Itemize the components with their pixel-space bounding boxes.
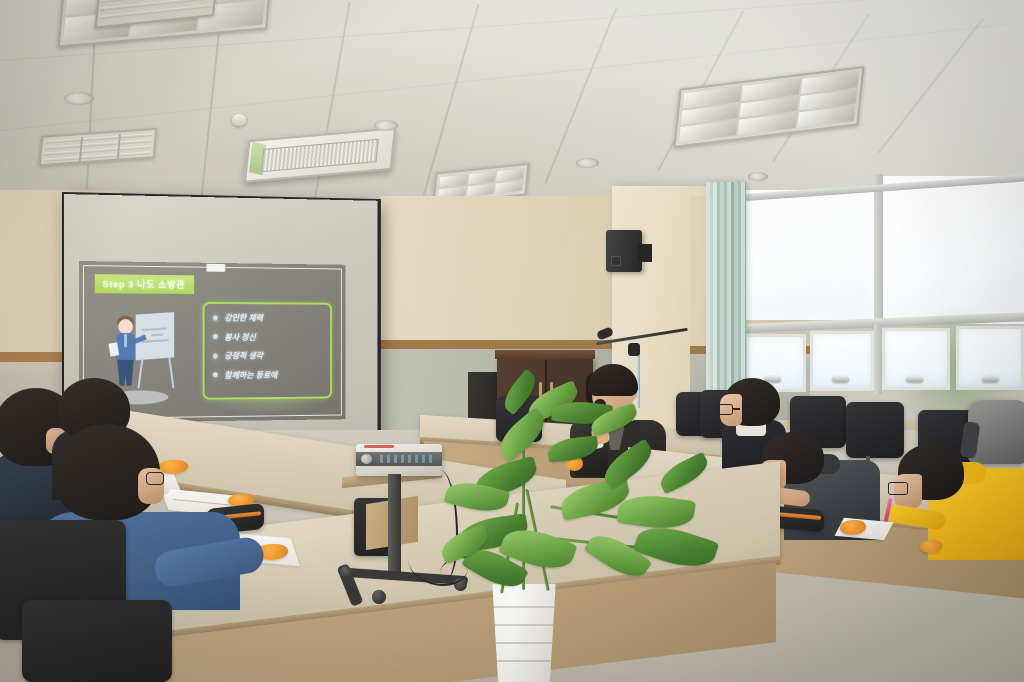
glasses [146, 472, 164, 485]
bullet-dot [213, 315, 218, 320]
cart-caster [372, 590, 386, 604]
ceiling-speaker [576, 158, 599, 168]
bullet-dot [213, 334, 218, 339]
slide-bullet: 봉사 정신 [213, 331, 330, 343]
slide-bullet: 긍정적 생각 [213, 350, 330, 362]
plant-leaf [547, 435, 599, 462]
plant-leaf [656, 452, 712, 495]
slide-title: Step 3 나도 소방관 [95, 274, 195, 294]
classroom-photo: Step 3 나도 소방관 강인한 체력 [0, 0, 1024, 682]
bullet-dot [213, 353, 218, 358]
ceiling-speaker [374, 120, 398, 131]
plant-pot [488, 584, 560, 682]
slide-bullet: 강인한 체력 [213, 312, 330, 324]
projector-lens [361, 454, 372, 464]
cabinet-top [495, 350, 595, 359]
window-sash [810, 331, 874, 391]
potted-plant [440, 392, 730, 682]
cart-post [388, 474, 401, 580]
bullet-dot [213, 372, 218, 377]
glasses [888, 482, 908, 495]
mic-stand-clamp [628, 343, 640, 356]
student-right-3 [884, 444, 1024, 560]
speaker-bracket [638, 244, 652, 262]
slide-bullet-list: 강인한 체력 봉사 정신 긍정적 생각 함께하는 동료애 [203, 302, 332, 400]
wall-mounted-speaker [606, 230, 642, 272]
slide-bullet: 함께하는 동료애 [213, 368, 330, 380]
cart-caster [340, 566, 352, 578]
smoke-detector [232, 114, 246, 126]
chair[interactable] [22, 600, 172, 682]
plant-leaf [598, 438, 658, 489]
plant-leaf [616, 491, 696, 533]
ceiling-speaker [64, 92, 94, 105]
